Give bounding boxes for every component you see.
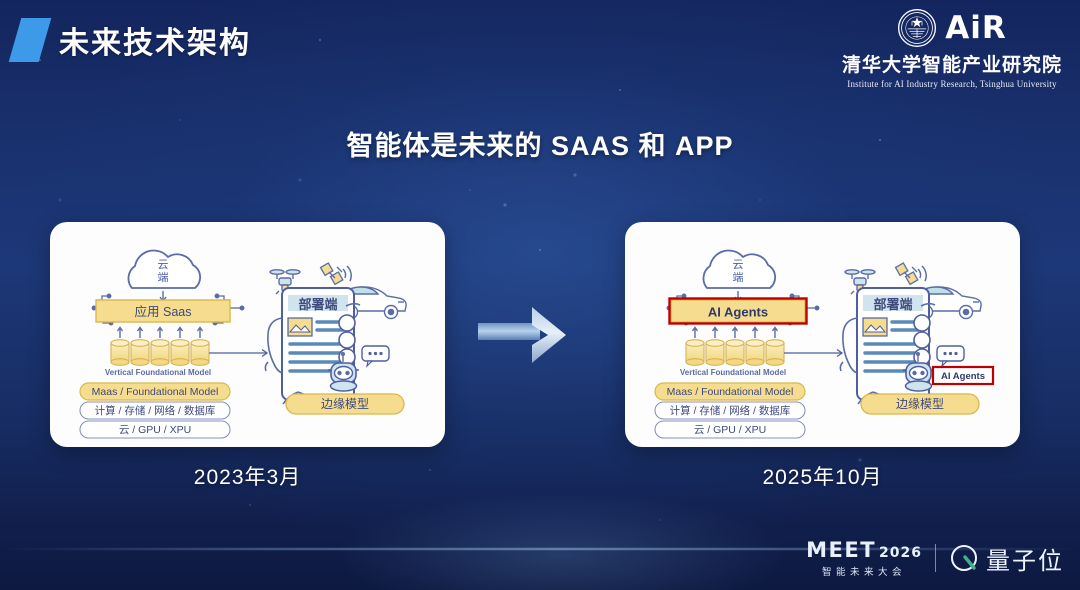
meet-year: 2026 — [879, 545, 922, 561]
qbitai-wordmark: 量子位 — [986, 541, 1064, 576]
edge-model-pill: 边缘模型 — [861, 394, 979, 414]
platform-bar-label: AI Agents — [708, 305, 768, 320]
cloud-label-line2: 端 — [733, 271, 744, 284]
satellite-icon — [321, 263, 352, 284]
slide-footer: MEET 2026 智能未来大会 量子位 — [806, 538, 1064, 578]
vertical-model-cylinders — [111, 340, 209, 366]
meet-logo-line1: MEET 2026 — [806, 538, 922, 562]
meet-logo: MEET 2026 智能未来大会 — [806, 538, 922, 578]
qbitai-logo: 量子位 — [949, 541, 1064, 576]
stack-row-0: Maas / Foundational Model — [655, 383, 805, 400]
stack-row-0: Maas / Foundational Model — [80, 383, 230, 400]
stack-row-label: 计算 / 存储 / 网络 / 数据库 — [95, 404, 216, 417]
slide-root: 未来技术架构 AiR 清华大学智能产业研究院 Institute — [0, 0, 1080, 590]
main-heading: 智能体是未来的 SAAS 和 APP — [0, 124, 1080, 163]
vertical-model-cylinders — [686, 340, 784, 366]
stack-row-2: 云 / GPU / XPU — [655, 421, 805, 438]
robot-ai-agents-badge: AI Agents — [933, 367, 993, 384]
upward-arrows-group — [693, 328, 778, 339]
robot-badge-label: AI Agents — [941, 371, 985, 382]
meet-wordmark: MEET — [806, 538, 876, 562]
cylinders-label: Vertical Foundational Model — [105, 368, 211, 377]
caption-after: 2025年10月 — [625, 461, 1020, 491]
satellite-icon — [896, 263, 927, 284]
footer-divider — [935, 544, 936, 572]
edge-model-label: 边缘模型 — [896, 397, 944, 411]
brand-logo: AiR 清华大学智能产业研究院 Institute for AI Industr… — [842, 8, 1062, 89]
device-label: 部署端 — [298, 297, 337, 312]
diagram-card-before: 云 端 应用 Saas — [50, 222, 445, 447]
platform-bar-label: 应用 Saas — [135, 304, 192, 319]
stack-row-label: Maas / Foundational Model — [92, 386, 219, 398]
caption-before: 2023年3月 — [50, 461, 445, 491]
slide-header: 未来技术架构 AiR 清华大学智能产业研究院 Institute — [0, 0, 1080, 100]
stack-row-label: 云 / GPU / XPU — [694, 424, 766, 436]
meet-subtitle: 智能未来大会 — [822, 564, 906, 578]
org-name-en: Institute for AI Industry Research, Tsin… — [847, 79, 1056, 89]
upward-arrows-group — [118, 328, 203, 339]
cloud-label-line2: 端 — [158, 271, 169, 284]
air-wordmark: AiR — [945, 13, 1007, 44]
right-arrow-icon — [478, 305, 583, 365]
speech-bubble-icon — [362, 346, 389, 366]
edge-model-label: 边缘模型 — [321, 397, 369, 411]
architecture-diagram-before: 云 端 应用 Saas — [50, 222, 445, 447]
device-label: 部署端 — [873, 297, 912, 312]
tsinghua-seal-icon — [897, 8, 937, 48]
cloud-label-line1: 云 — [158, 259, 169, 271]
diagram-card-after: 云 端 AI Agents — [625, 222, 1020, 447]
stack-row-2: 云 / GPU / XPU — [80, 421, 230, 438]
cloud-label-line1: 云 — [733, 259, 744, 271]
page-title: 未来技术架构 — [59, 18, 251, 62]
accent-bar-icon — [9, 18, 52, 62]
cylinders-label: Vertical Foundational Model — [680, 368, 786, 377]
org-name-cn: 清华大学智能产业研究院 — [842, 50, 1062, 77]
architecture-diagram-after: 云 端 AI Agents — [625, 222, 1020, 447]
logo-top-row: AiR — [897, 8, 1007, 48]
stack-row-label: Maas / Foundational Model — [667, 386, 794, 398]
stack-row-1: 计算 / 存储 / 网络 / 数据库 — [655, 402, 805, 419]
stack-row-label: 云 / GPU / XPU — [119, 424, 191, 436]
edge-model-pill: 边缘模型 — [286, 394, 404, 414]
speech-bubble-icon — [937, 346, 964, 366]
qbitai-q-icon — [949, 543, 979, 573]
title-block: 未来技术架构 — [15, 18, 251, 62]
stack-row-1: 计算 / 存储 / 网络 / 数据库 — [80, 402, 230, 419]
stack-row-label: 计算 / 存储 / 网络 / 数据库 — [670, 404, 791, 417]
